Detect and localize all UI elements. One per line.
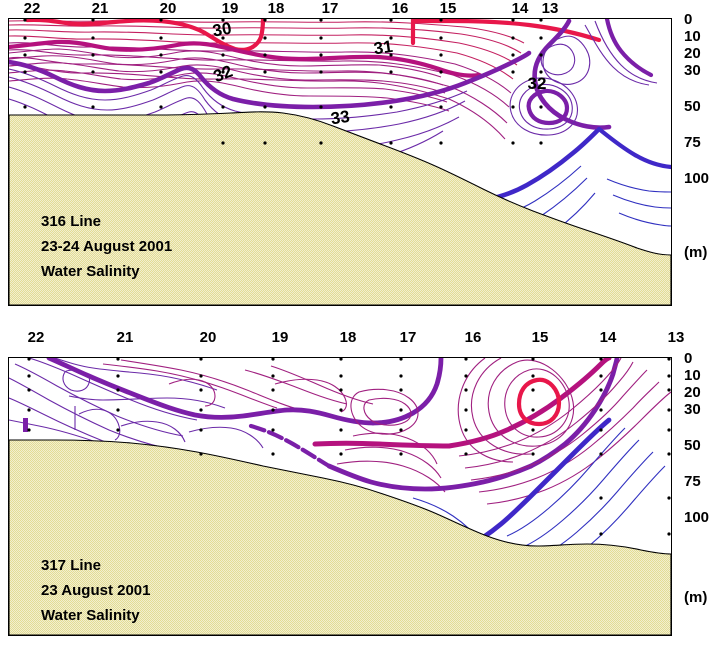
contour-33-bold-317-main [329, 466, 531, 489]
x-tick-20: 20 [160, 1, 177, 17]
x-tick-21: 21 [92, 1, 109, 17]
contour-label-33: 33 [330, 107, 351, 128]
contour-32-bold-317b [373, 358, 441, 423]
x-tick-16: 16 [465, 330, 482, 346]
y-axis-panel-316: 01020305075100(m) [684, 18, 720, 306]
x-tick-18: 18 [340, 330, 357, 346]
x-tick-22: 22 [24, 1, 41, 17]
depth-tick-20: 20 [684, 385, 701, 400]
x-tick-17: 17 [322, 1, 339, 17]
x-tick-14: 14 [600, 330, 617, 346]
caption-line-3: Water Salinity [41, 603, 151, 628]
x-tick-18: 18 [268, 1, 285, 17]
x-tick-14: 14 [512, 1, 529, 17]
depth-unit-label: (m) [684, 589, 707, 606]
panel-316-line: 22212019181716151413 [0, 0, 720, 310]
y-axis-panel-317: 01020305075100(m) [684, 357, 720, 636]
depth-tick-0: 0 [684, 351, 692, 366]
depth-tick-75: 75 [684, 474, 701, 489]
contour-32-right-branch [607, 19, 651, 75]
x-tick-15: 15 [532, 330, 549, 346]
x-axis-top-panel-317: 22212019181716151413 [0, 330, 672, 346]
depth-tick-50: 50 [684, 438, 701, 453]
plot-area-panel-316: 3031323233 316 Line23-24 August 2001Wate… [8, 18, 672, 306]
depth-tick-50: 50 [684, 99, 701, 114]
depth-tick-30: 30 [684, 402, 701, 417]
x-tick-21: 21 [117, 330, 134, 346]
x-tick-13: 13 [668, 330, 685, 346]
depth-tick-75: 75 [684, 135, 701, 150]
depth-tick-30: 30 [684, 63, 701, 78]
contour-label-30: 30 [211, 19, 233, 41]
depth-tick-100: 100 [684, 171, 709, 186]
contour-label-32: 32 [211, 62, 236, 87]
contour-label-31: 31 [373, 37, 394, 58]
contour-label-32: 32 [528, 74, 547, 93]
contour-stub-317 [23, 418, 28, 432]
contour-32-bold-317a [49, 358, 373, 423]
caption-line-3: Water Salinity [41, 259, 172, 284]
depth-unit-label: (m) [684, 244, 707, 261]
depth-tick-20: 20 [684, 46, 701, 61]
caption-line-2: 23-24 August 2001 [41, 234, 172, 259]
caption-line-1: 316 Line [41, 209, 172, 234]
x-tick-17: 17 [400, 330, 417, 346]
x-tick-15: 15 [440, 1, 457, 17]
caption-line-2: 23 August 2001 [41, 578, 151, 603]
contour-33-bold-right [599, 129, 671, 167]
x-tick-19: 19 [222, 1, 239, 17]
x-tick-16: 16 [392, 1, 409, 17]
depth-tick-0: 0 [684, 12, 692, 27]
depth-tick-10: 10 [684, 368, 701, 383]
caption-line-1: 317 Line [41, 553, 151, 578]
panel-317-line: 22212019181716151413 [0, 330, 720, 640]
x-tick-20: 20 [200, 330, 217, 346]
x-tick-19: 19 [272, 330, 289, 346]
depth-tick-10: 10 [684, 29, 701, 44]
caption-panel-316: 316 Line23-24 August 2001Water Salinity [41, 209, 172, 284]
figure-root: 22212019181716151413 [0, 0, 720, 645]
contour-32-bold-317-flat [315, 443, 449, 446]
x-axis-top-panel-316: 22212019181716151413 [0, 1, 672, 17]
plot-area-panel-317: 3132333334 317 Line23 August 2001Water S… [8, 357, 672, 636]
x-tick-13: 13 [542, 1, 559, 17]
depth-tick-100: 100 [684, 510, 709, 525]
x-tick-22: 22 [28, 330, 45, 346]
caption-panel-317: 317 Line23 August 2001Water Salinity [41, 553, 151, 628]
